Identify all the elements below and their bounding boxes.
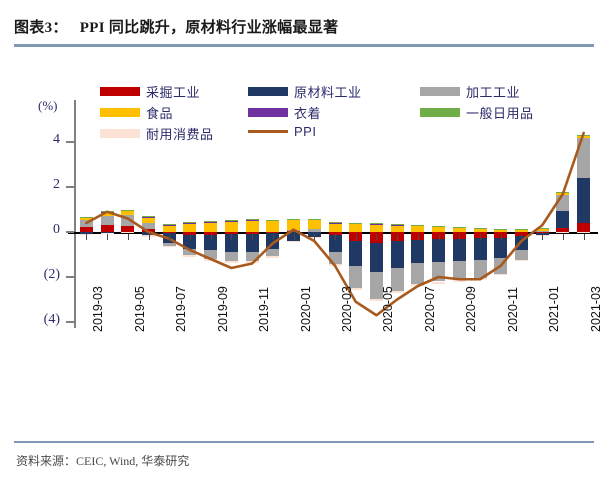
x-axis-labels: 2019-032019-052019-072019-092019-112020-… [0,330,608,430]
x-tick-mark [397,234,398,240]
x-tick-mark [128,234,129,240]
x-axis-label: 2020-05 [381,286,395,332]
chart-header: 图表3： PPI 同比跳升，原材料行业涨幅最显著 [14,16,594,46]
title-divider [14,44,594,47]
x-axis-label: 2021-03 [589,286,603,332]
x-tick-mark [294,234,295,240]
x-tick-mark [563,234,564,240]
x-tick-mark [521,234,522,240]
x-tick-mark [86,234,87,240]
x-tick-mark [335,234,336,240]
x-tick-mark [231,234,232,240]
figure-title: PPI 同比跳升，原材料行业涨幅最显著 [80,20,339,36]
footer-divider [14,441,594,443]
x-tick-mark [376,234,377,240]
x-axis-label: 2021-01 [547,286,561,332]
x-tick-mark [356,234,357,240]
x-tick-mark [252,234,253,240]
x-axis-label: 2019-11 [257,287,271,332]
figure-number: 图表3： [14,20,68,36]
x-tick-mark [149,234,150,240]
x-tick-mark [190,234,191,240]
x-axis-label: 2020-09 [464,286,478,332]
x-tick-mark [584,234,585,240]
x-tick-mark [542,234,543,240]
x-tick-mark [459,234,460,240]
x-tick-mark [107,234,108,240]
x-axis-label: 2020-07 [423,286,437,332]
x-axis-label: 2019-03 [91,286,105,332]
source-note: 资料来源：CEIC, Wind, 华泰研究 [16,452,189,469]
x-axis-label: 2020-11 [506,287,520,332]
x-tick-mark [273,234,274,240]
x-tick-mark [418,234,419,240]
x-tick-mark [501,234,502,240]
x-tick-mark [169,234,170,240]
x-tick-mark [439,234,440,240]
x-axis-label: 2019-07 [174,286,188,332]
x-axis-label: 2019-09 [216,286,230,332]
x-axis-label: 2020-03 [340,286,354,332]
x-axis-label: 2020-01 [299,286,313,332]
x-tick-mark [314,234,315,240]
page-title: 图表3： PPI 同比跳升，原材料行业涨幅最显著 [14,16,594,37]
x-tick-mark [211,234,212,240]
x-axis-label: 2019-05 [133,286,147,332]
x-tick-mark [480,234,481,240]
